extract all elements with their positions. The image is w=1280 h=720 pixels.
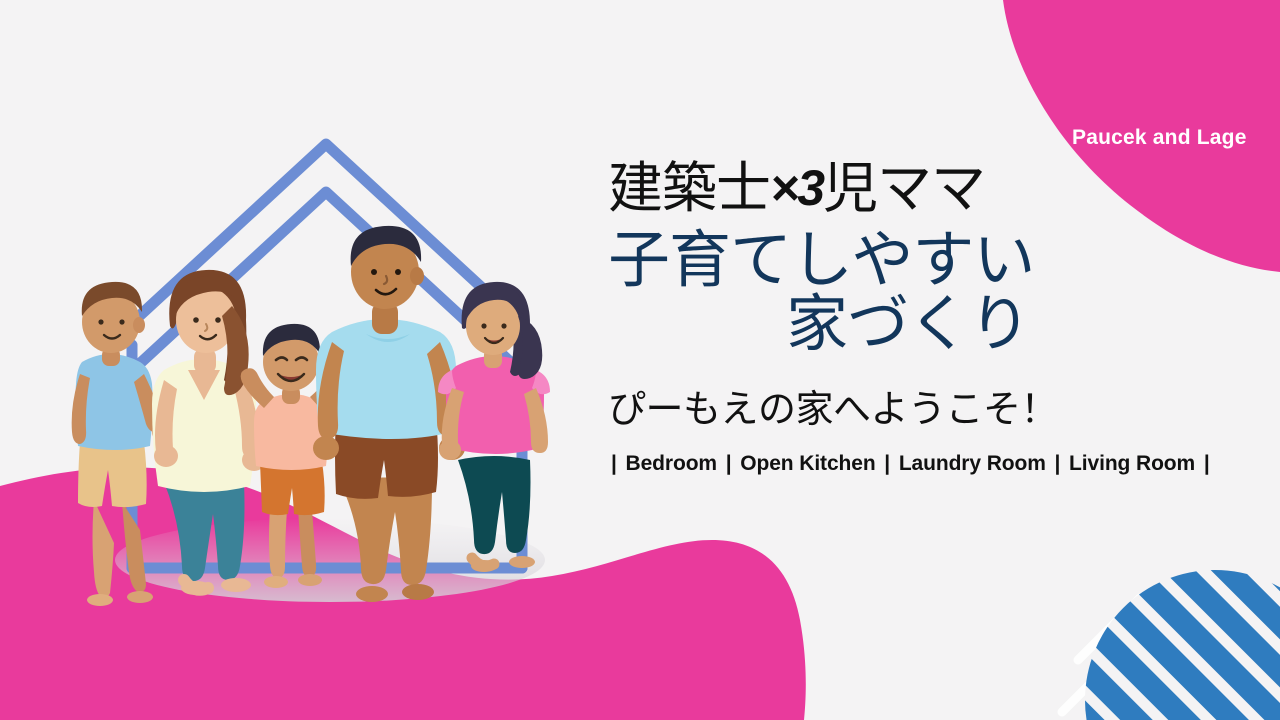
striped-blue-circle bbox=[1085, 570, 1280, 720]
room-separator: | bbox=[723, 452, 735, 475]
room-separator: | bbox=[1052, 452, 1064, 475]
eyebrow-multiplier: ×3 bbox=[770, 162, 823, 215]
room-separator: | bbox=[881, 452, 893, 475]
room-list: | Bedroom | Open Kitchen | Laundry Room … bbox=[608, 452, 1208, 476]
room-separator: | bbox=[1201, 452, 1213, 475]
page-title: 子育てしやすい 家づくり bbox=[608, 230, 1208, 356]
room-list-item-laundry-room[interactable]: Laundry Room bbox=[893, 452, 1051, 475]
room-list-item-living-room[interactable]: Living Room bbox=[1063, 452, 1201, 475]
headline-line-2: 家づくり bbox=[608, 294, 1208, 356]
room-separator: | bbox=[608, 452, 620, 475]
room-list-item-bedroom[interactable]: Bedroom bbox=[620, 452, 723, 475]
headline-line-1: 子育てしやすい bbox=[608, 230, 1208, 292]
family-illustration bbox=[60, 130, 580, 650]
eyebrow-heading: 建築士×3児ママ bbox=[608, 160, 1208, 218]
subheading: ぴーもえの家へようこそ！ bbox=[608, 390, 1208, 432]
eyebrow-text-after: 児ママ bbox=[823, 157, 985, 219]
diagonal-stripes-decoration bbox=[1062, 590, 1280, 720]
brand-name: Paucek and Lage bbox=[1072, 126, 1247, 150]
eyebrow-text-before: 建築士 bbox=[608, 157, 770, 219]
room-list-item-open-kitchen[interactable]: Open Kitchen bbox=[735, 452, 882, 475]
slide-canvas: Paucek and Lage bbox=[0, 0, 1280, 720]
text-column: 建築士×3児ママ 子育てしやすい 家づくり ぴーもえの家へようこそ！ | Bed… bbox=[608, 160, 1208, 476]
